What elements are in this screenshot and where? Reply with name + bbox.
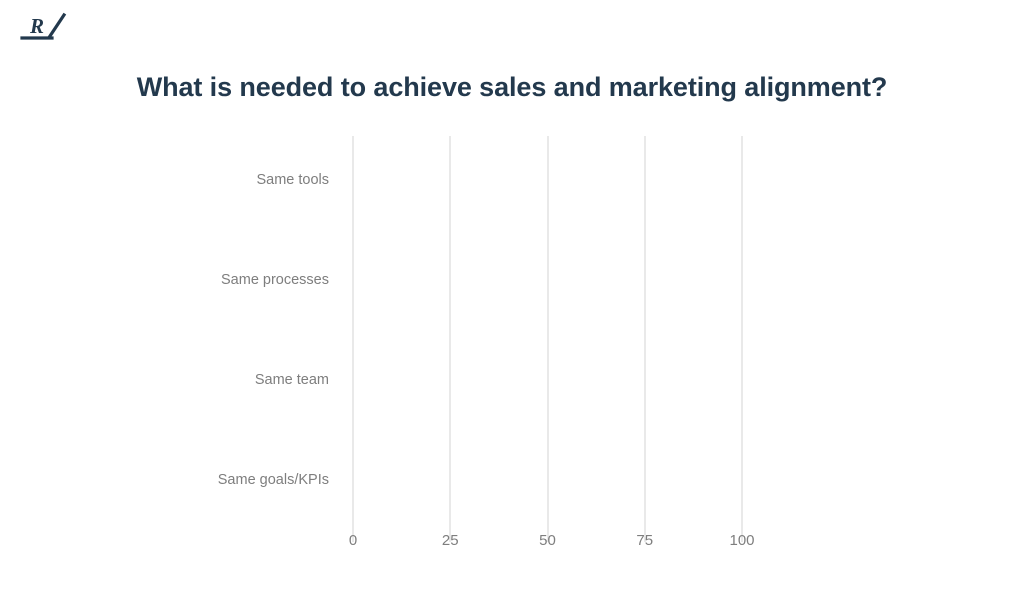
y-axis-tick-label: Same processes (221, 236, 329, 324)
r-slash-logo-icon: R (18, 8, 78, 48)
y-axis-labels: Same tools Same processes Same team Same… (0, 136, 341, 542)
x-axis-labels: 0 25 50 75 100 (353, 524, 742, 558)
y-axis-tick-label: Same team (255, 336, 329, 424)
bar-series (353, 136, 742, 538)
x-axis-tick-label: 50 (539, 532, 556, 549)
bar-chart: Same tools Same processes Same team Same… (0, 120, 1024, 560)
x-axis-tick-label: 0 (349, 532, 357, 549)
logo-slash-icon (50, 15, 64, 36)
x-axis-tick-label: 75 (636, 532, 653, 549)
plot-area (353, 136, 742, 542)
y-axis-tick-label: Same goals/KPIs (218, 436, 329, 524)
logo-letter-r: R (29, 14, 44, 38)
brand-logo: R (18, 8, 78, 48)
x-axis-tick-label: 25 (442, 532, 459, 549)
x-axis-tick-label: 100 (729, 532, 754, 549)
chart-title: What is needed to achieve sales and mark… (0, 72, 1024, 103)
y-axis-tick-label: Same tools (256, 136, 329, 224)
